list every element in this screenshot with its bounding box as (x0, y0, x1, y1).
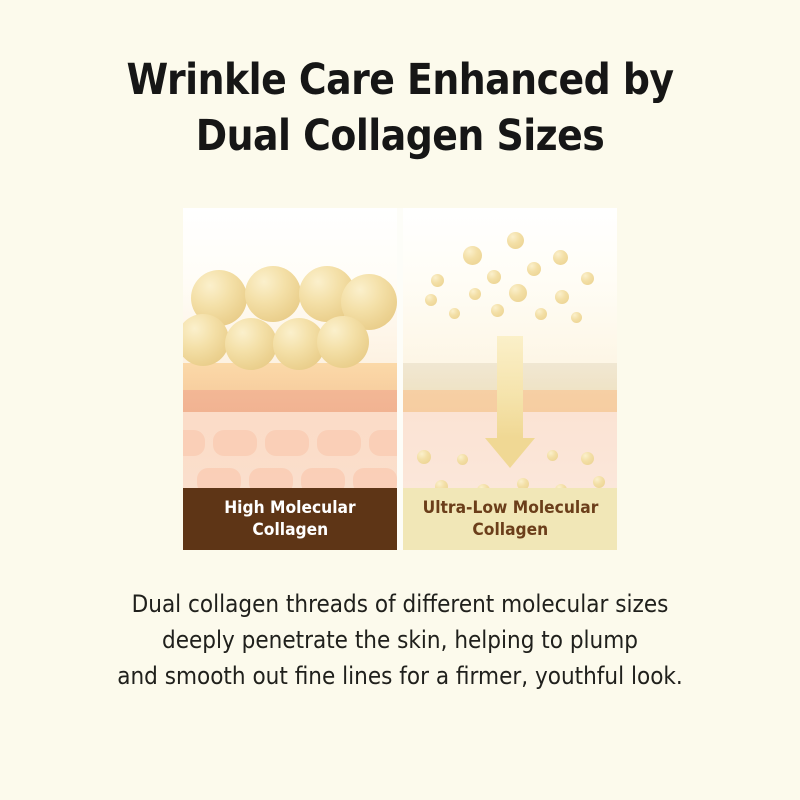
high-molecular-panel: High Molecular Collagen (183, 208, 397, 550)
description-line-2: deeply penetrate the skin, helping to pl… (40, 622, 760, 658)
collagen-particle-small (553, 250, 568, 265)
collagen-particle-small (463, 246, 482, 265)
collagen-particle-small (431, 274, 444, 287)
skin-cross-section-left (183, 363, 397, 488)
collagen-sphere-large (317, 316, 369, 368)
dermis-cell (213, 430, 257, 456)
label-high-molecular-line1: High Molecular (224, 497, 355, 519)
collagen-particle-small (571, 312, 582, 323)
collagen-particle-small (417, 450, 431, 464)
collagen-particle-small (487, 270, 501, 284)
title-line-1: Wrinkle Care Enhanced by (48, 52, 752, 108)
collagen-particle-small (469, 288, 481, 300)
description-line-1: Dual collagen threads of different molec… (40, 586, 760, 622)
label-ultra-low-line1: Ultra-Low Molecular (422, 497, 598, 519)
dermis-cell (369, 430, 397, 456)
description-paragraph: Dual collagen threads of different molec… (0, 586, 800, 694)
collagen-particle-small (547, 450, 558, 461)
dual-collagen-illustration: High Molecular Collagen Ultra-Low Molecu… (183, 208, 617, 550)
dermis-layer-left (183, 412, 397, 488)
label-ultra-low-molecular: Ultra-Low Molecular Collagen (403, 488, 617, 550)
collagen-particle-small (535, 308, 547, 320)
dermis-cell (265, 430, 309, 456)
description-line-3: and smooth out fine lines for a firmer, … (40, 658, 760, 694)
collagen-particle-small (581, 452, 594, 465)
label-high-molecular-line2: Collagen (252, 519, 328, 541)
collagen-particle-small (555, 290, 569, 304)
collagen-particle-small (593, 476, 605, 488)
collagen-sphere-large (245, 266, 301, 322)
collagen-particle-small (507, 232, 524, 249)
ultra-low-molecular-panel: Ultra-Low Molecular Collagen (403, 208, 617, 550)
label-ultra-low-line2: Collagen (472, 519, 548, 541)
collagen-particle-small (509, 284, 527, 302)
collagen-particle-small (527, 262, 541, 276)
dermal-junction-layer-left (183, 390, 397, 412)
collagen-particle-small (491, 304, 504, 317)
page-title: Wrinkle Care Enhanced by Dual Collagen S… (0, 52, 800, 164)
dermis-cell (317, 430, 361, 456)
penetration-arrow-head (485, 438, 535, 468)
collagen-particle-small (425, 294, 437, 306)
penetration-arrow-shaft (497, 336, 523, 438)
label-high-molecular: High Molecular Collagen (183, 488, 397, 550)
collagen-particle-small (457, 454, 468, 465)
collagen-particle-small (449, 308, 460, 319)
dermis-cell (183, 430, 205, 456)
collagen-particle-small (581, 272, 594, 285)
title-line-2: Dual Collagen Sizes (48, 108, 752, 164)
collagen-sphere-large (225, 318, 277, 370)
